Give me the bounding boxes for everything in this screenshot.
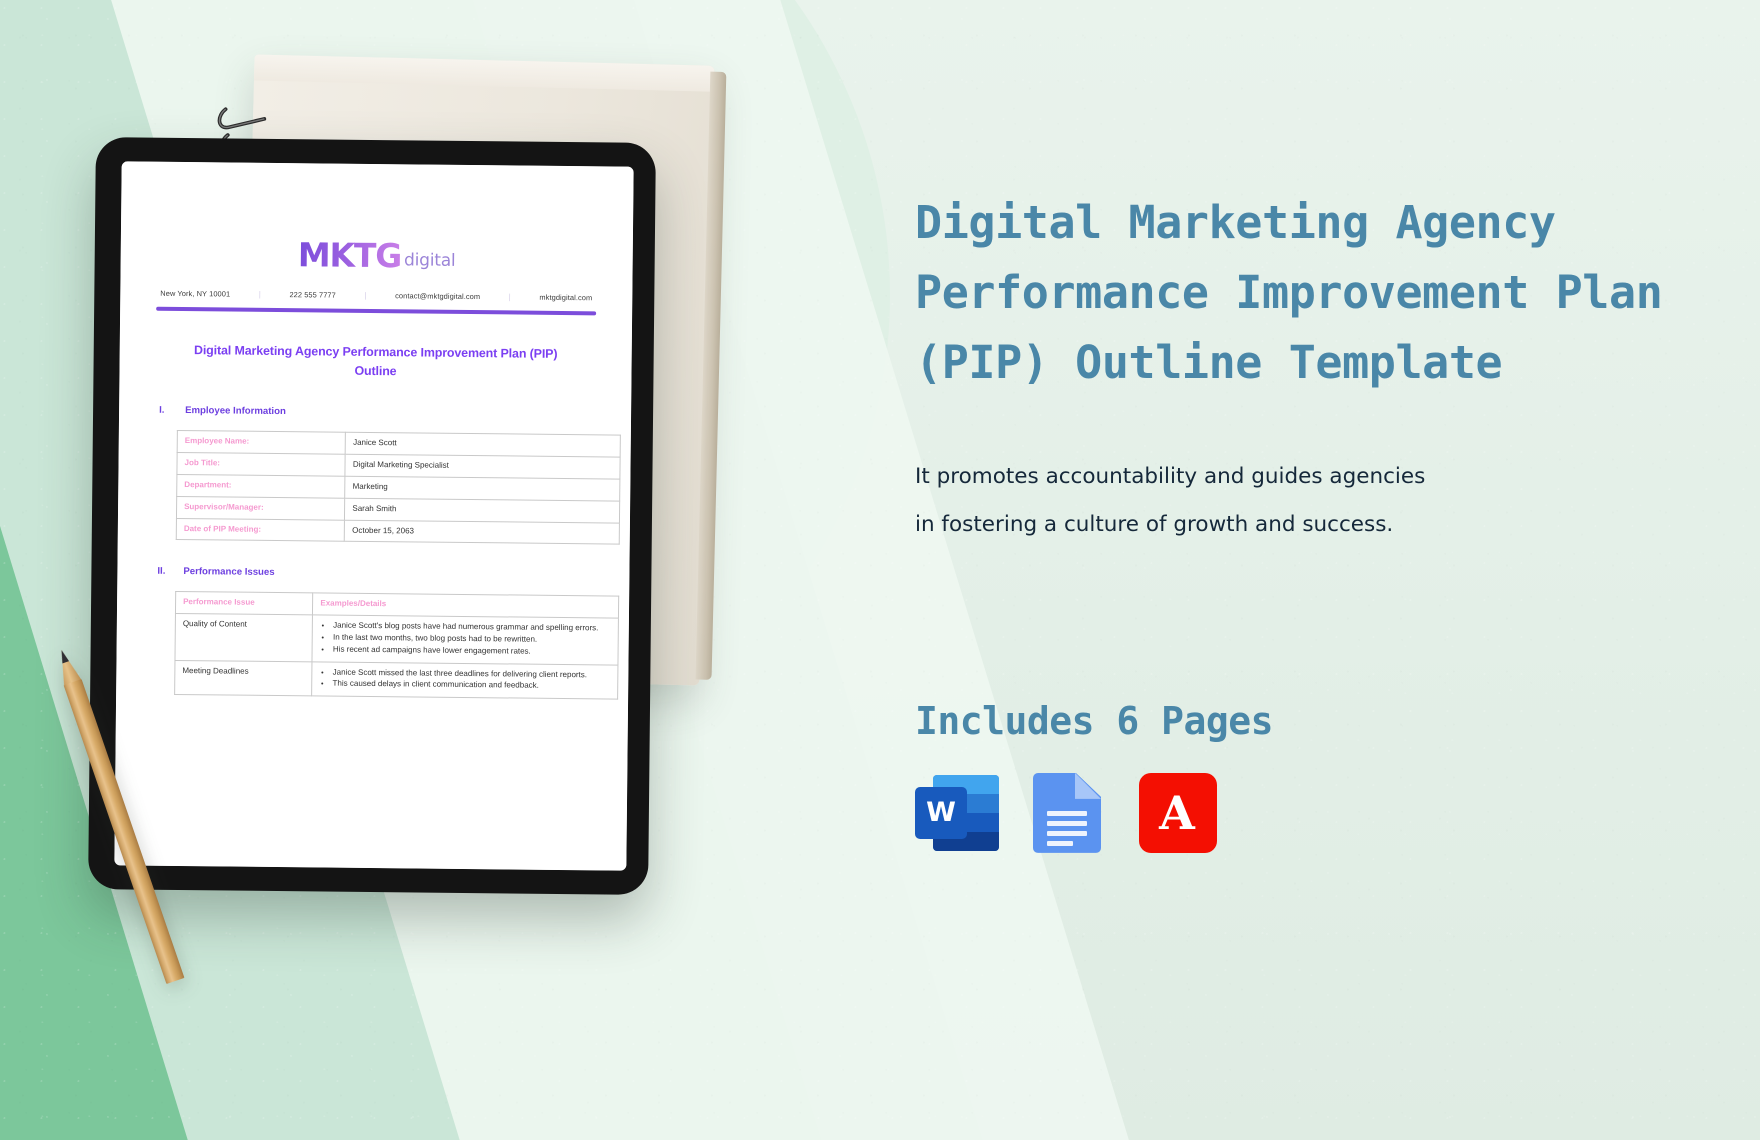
field-label: Date of PIP Meeting:	[176, 518, 345, 542]
field-label: Employee Name:	[177, 431, 346, 455]
contact-address: New York, NY 10001	[160, 289, 230, 299]
contact-phone: 222 555 7777	[289, 290, 336, 299]
docs-icon-text-line	[1047, 831, 1087, 836]
performance-issues-table: Performance Issue Examples/Details Quali…	[174, 591, 619, 699]
field-value: Janice Scott	[345, 433, 620, 458]
tablet-screen[interactable]: MKTGdigital New York, NY 10001 | 222 555…	[114, 161, 633, 870]
pdf-icon-letter: A	[1135, 771, 1219, 855]
column-header-examples-details: Examples/Details	[313, 593, 619, 618]
field-label: Department:	[177, 474, 346, 498]
logo-mark: MKTG	[298, 235, 402, 275]
logo-suffix: digital	[404, 250, 456, 271]
section-heading-employee-information: I. Employee Information	[159, 405, 597, 421]
list-item: This caused delays in client communicati…	[333, 679, 611, 693]
word-icon[interactable]: W	[915, 771, 999, 855]
contact-separator: |	[259, 290, 261, 299]
docs-icon-text-line	[1047, 811, 1087, 816]
section-numeral: II.	[157, 566, 183, 577]
section-heading-performance-issues: II. Performance Issues	[157, 566, 595, 582]
word-icon-letter: W	[915, 787, 967, 839]
promo-headline: Digital Marketing Agency Performance Imp…	[915, 188, 1705, 399]
contact-email: contact@mktgdigital.com	[395, 291, 480, 301]
pdf-icon[interactable]: A	[1135, 771, 1219, 855]
table-row: Date of PIP Meeting: October 15, 2063	[176, 518, 619, 544]
letterhead-contact-row: New York, NY 10001 | 222 555 7777 | cont…	[160, 289, 592, 303]
section-label: Employee Information	[185, 405, 286, 417]
field-label: Supervisor/Manager:	[176, 496, 345, 520]
document-page: MKTGdigital New York, NY 10001 | 222 555…	[114, 161, 633, 870]
issue-name: Quality of Content	[175, 614, 313, 662]
table-row: Meeting Deadlines Janice Scott missed th…	[175, 660, 618, 699]
tablet-device: MKTGdigital New York, NY 10001 | 222 555…	[88, 137, 656, 895]
field-value: Sarah Smith	[345, 498, 620, 523]
field-value: Digital Marketing Specialist	[345, 454, 620, 479]
contact-separator: |	[509, 292, 511, 301]
table-row: Quality of Content Janice Scott's blog p…	[175, 614, 618, 665]
section-numeral: I.	[159, 405, 185, 416]
document-title: Digital Marketing Agency Performance Imp…	[171, 341, 579, 384]
google-docs-icon[interactable]	[1025, 771, 1109, 855]
docs-icon-fold	[1075, 773, 1101, 799]
list-item: His recent ad campaigns have lower engag…	[333, 644, 611, 658]
field-value: October 15, 2063	[345, 520, 620, 545]
pencil-lead	[58, 649, 69, 664]
docs-icon-text-line	[1047, 821, 1087, 826]
employee-information-table: Employee Name: Janice Scott Job Title: D…	[176, 430, 621, 545]
field-label: Job Title:	[177, 453, 346, 477]
includes-pages-label: Includes 6 Pages	[915, 699, 1705, 743]
contact-website: mktgdigital.com	[539, 293, 592, 303]
letterhead-logo: MKTGdigital	[155, 234, 599, 278]
section-label: Performance Issues	[183, 566, 274, 578]
promo-panel: Digital Marketing Agency Performance Imp…	[915, 188, 1705, 855]
column-header-performance-issue: Performance Issue	[175, 592, 313, 615]
issue-details: Janice Scott's blog posts have had numer…	[312, 615, 618, 665]
promo-description: It promotes accountability and guides ag…	[915, 453, 1445, 549]
docs-icon-text-line	[1047, 841, 1073, 846]
letterhead-rule	[156, 307, 596, 316]
field-value: Marketing	[345, 476, 620, 501]
file-format-icons: W A	[915, 771, 1705, 855]
contact-separator: |	[364, 291, 366, 300]
issue-details: Janice Scott missed the last three deadl…	[312, 661, 618, 699]
issue-name: Meeting Deadlines	[175, 660, 313, 696]
